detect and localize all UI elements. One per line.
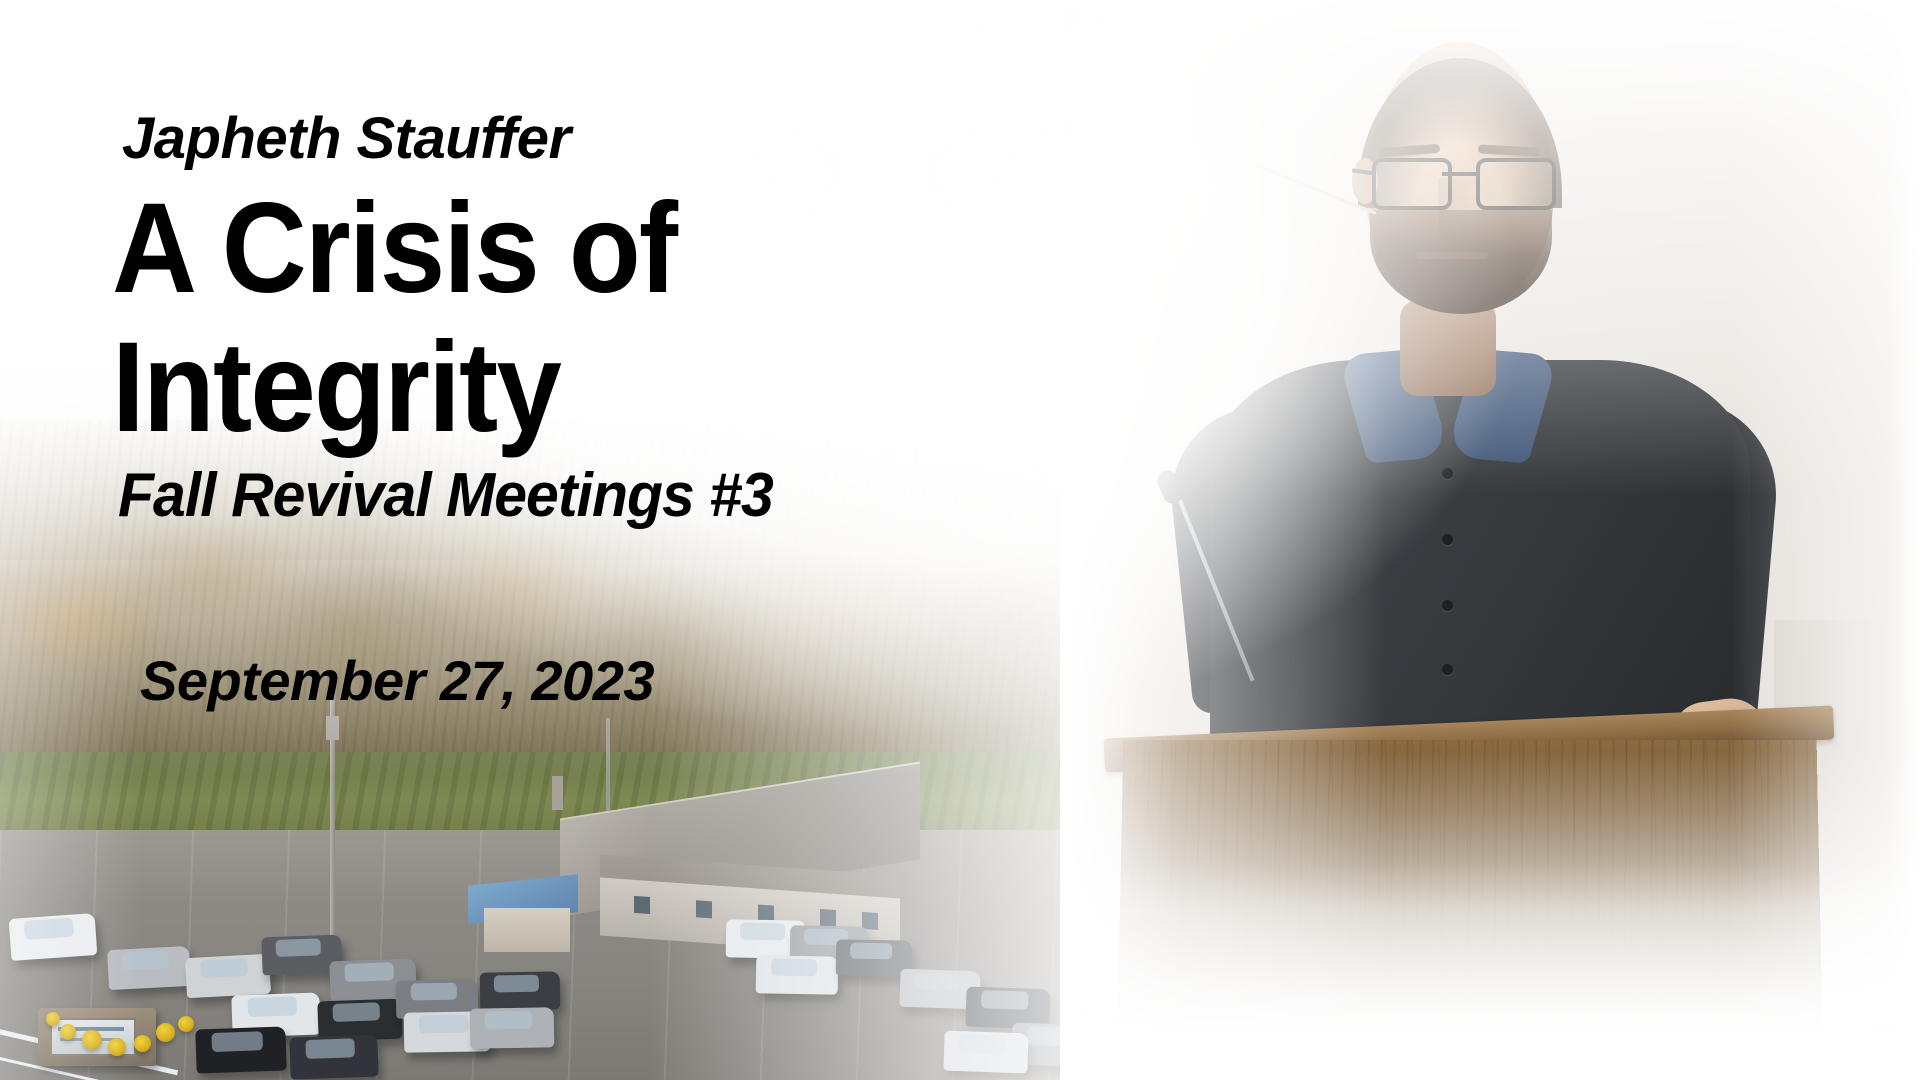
page-title-line-1: A Crisis of <box>112 186 1106 311</box>
speaker-name: Japheth Stauffer <box>122 110 1192 168</box>
page-title-line-2: Integrity <box>112 325 1106 450</box>
date-label: September 27, 2023 <box>140 653 1192 709</box>
title-card: Japheth Stauffer A Crisis of Integrity F… <box>0 0 1920 1080</box>
series-subtitle: Fall Revival Meetings #3 <box>118 465 1138 527</box>
title-text-block: Japheth Stauffer A Crisis of Integrity F… <box>112 110 1192 709</box>
